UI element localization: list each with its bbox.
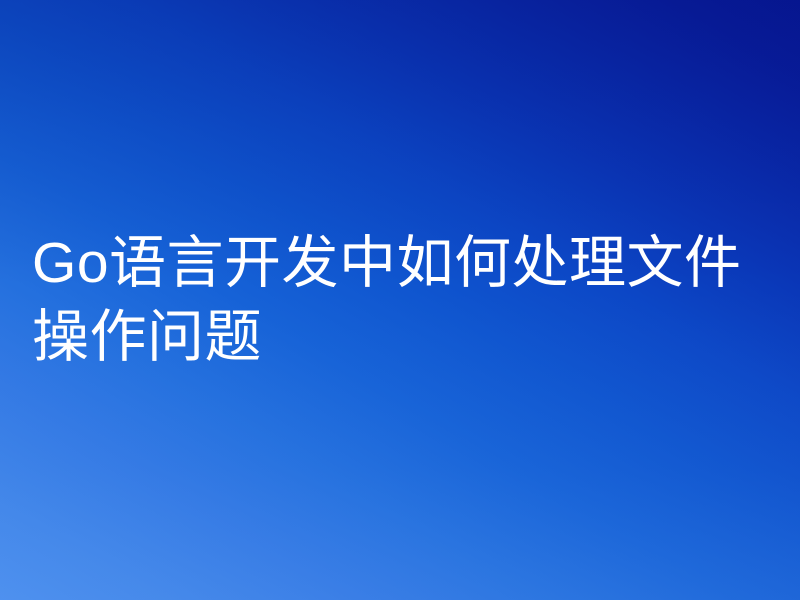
title-card: Go语言开发中如何处理文件操作问题 bbox=[0, 0, 800, 600]
page-title: Go语言开发中如何处理文件操作问题 bbox=[0, 226, 800, 374]
headline-container: Go语言开发中如何处理文件操作问题 bbox=[0, 0, 800, 600]
